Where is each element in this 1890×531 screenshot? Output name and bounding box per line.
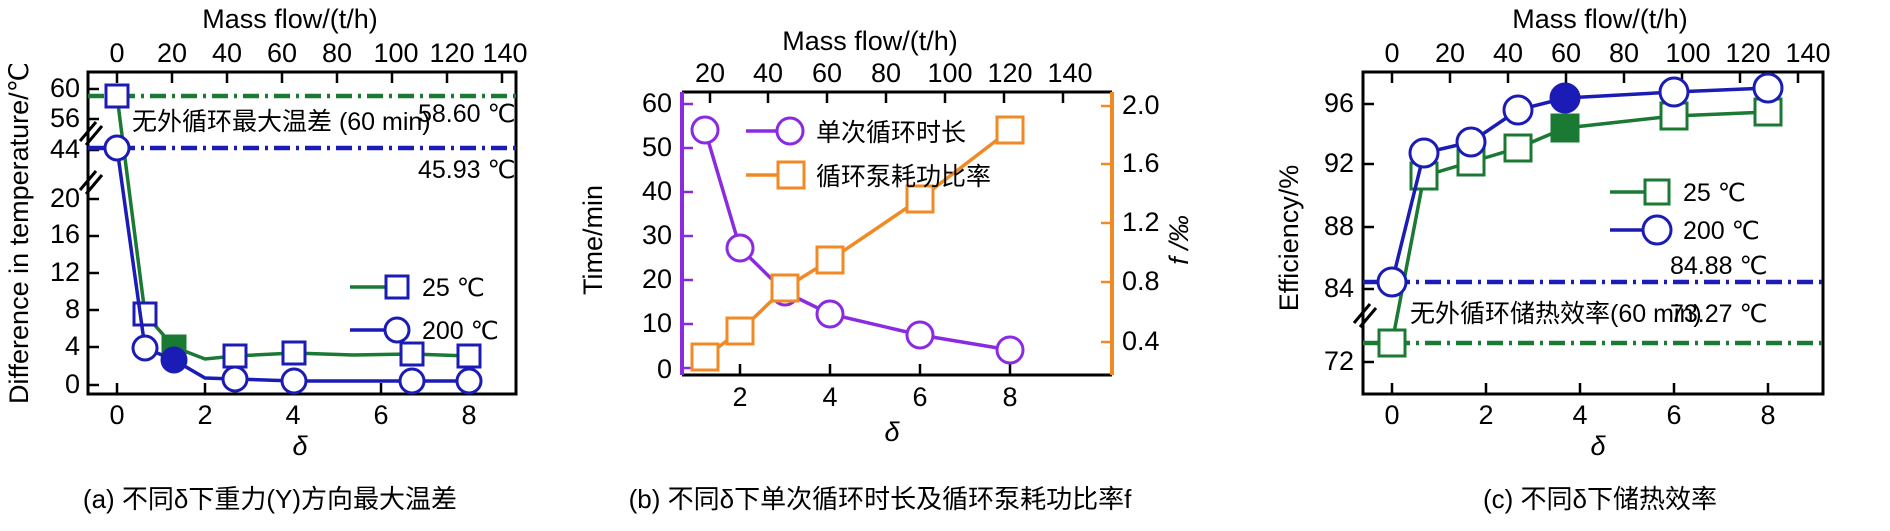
panel-a-bottom-tick-6: 6 <box>373 400 388 430</box>
panel-c-top-ticks <box>1392 72 1798 83</box>
panel-a-legend[interactable]: 25 ℃ 200 ℃ <box>350 274 499 345</box>
panel-a-legend-marker-25c <box>386 276 408 298</box>
panel-b-top-ticks <box>710 92 1063 103</box>
panel-c-bottom-tick-6: 6 <box>1666 400 1681 430</box>
panel-c-y-axis-title: Efficiency/% <box>1274 165 1304 312</box>
panel-a-bottom-tick-0: 0 <box>109 400 124 430</box>
panel-a-top-tick-120: 120 <box>429 38 474 68</box>
panel-c-axis-break-marks <box>1354 304 1376 327</box>
panel-a-y-tick-44: 44 <box>50 134 80 164</box>
panel-c-legend-label-25c: 25 ℃ <box>1683 179 1746 207</box>
panel-b-legend-label-pump-ratio: 循环泵耗功比率 <box>816 163 991 191</box>
panel-c-bottom-tick-4: 4 <box>1572 400 1587 430</box>
panel-c-legend-marker-25c <box>1645 180 1669 204</box>
panel-a-legend-label-25c: 25 ℃ <box>422 274 485 302</box>
panel-c-legend[interactable]: 25 ℃ 200 ℃ <box>1610 179 1760 245</box>
panel-b-bottom-tick-8: 8 <box>1002 382 1017 412</box>
panel-c-top-tick-60: 60 <box>1551 38 1581 68</box>
panel-c-x-axis-title: δ <box>1590 431 1606 461</box>
panel-c-y-tick-88: 88 <box>1324 211 1354 241</box>
panel-b-y-left-tick-0: 0 <box>657 354 672 384</box>
panel-c-bottom-tick-8: 8 <box>1760 400 1775 430</box>
panel-b-y-right-tick-0p4: 0.4 <box>1122 326 1160 356</box>
panel-b-y-right-tick-0p8: 0.8 <box>1122 266 1160 296</box>
panel-b-top-tick-120: 120 <box>987 58 1032 88</box>
panel-b-svg: Mass flow/(t/h) 20 40 60 80 100 120 140 … <box>540 0 1220 531</box>
panel-b-y-left-tick-20: 20 <box>642 264 672 294</box>
panel-b-y-left-tick-60: 60 <box>642 88 672 118</box>
panel-c-y-tick-72: 72 <box>1324 346 1354 376</box>
panel-b: Mass flow/(t/h) 20 40 60 80 100 120 140 … <box>540 0 1220 531</box>
panel-a-top-tick-20: 20 <box>157 38 187 68</box>
panel-c-top-tick-40: 40 <box>1493 38 1523 68</box>
panel-a-annotation-green-value: 58.60 ℃ <box>418 100 516 128</box>
panel-c-annotation-blue-value: 84.88 ℃ <box>1670 252 1768 280</box>
panel-c-top-tick-20: 20 <box>1435 38 1465 68</box>
panel-b-legend[interactable]: 单次循环时长 循环泵耗功比率 <box>746 118 991 191</box>
panel-c-top-tick-0: 0 <box>1384 38 1399 68</box>
panel-a-y-tick-0: 0 <box>65 369 80 399</box>
panel-a-legend-marker-200c <box>385 318 409 342</box>
panel-b-top-tick-80: 80 <box>871 58 901 88</box>
panel-b-legend-marker-pump-ratio <box>778 162 804 188</box>
panel-a-legend-label-200c: 200 ℃ <box>422 317 499 345</box>
panel-b-legend-marker-cycle-time <box>777 118 803 144</box>
panel-c: Mass flow/(t/h) 0 20 40 60 80 100 120 14… <box>1220 0 1890 531</box>
panel-c-top-tick-140: 140 <box>1785 38 1830 68</box>
panel-b-x-axis-title: δ <box>884 417 900 447</box>
panel-a-x-axis-title: δ <box>292 431 308 461</box>
panel-b-bottom-tick-2: 2 <box>732 382 747 412</box>
panel-b-top-tick-60: 60 <box>812 58 842 88</box>
panel-b-top-tick-40: 40 <box>753 58 783 88</box>
panel-c-annotation-text: 无外循环储热效率(60 min) <box>1410 300 1702 328</box>
panel-a-y-tick-8: 8 <box>65 294 80 324</box>
panel-c-top-axis-title: Mass flow/(t/h) <box>1512 4 1688 34</box>
panel-c-annotation-green-value: 73.27 ℃ <box>1670 300 1768 328</box>
panel-b-y-left-tick-30: 30 <box>642 220 672 250</box>
panel-a-svg: Mass flow/(t/h) 0 20 40 60 80 100 120 14… <box>0 0 540 531</box>
panel-a-annotation-blue-value: 45.93 ℃ <box>418 156 516 184</box>
panel-a-y-tick-60: 60 <box>50 73 80 103</box>
panel-b-top-tick-20: 20 <box>695 58 725 88</box>
panel-c-top-tick-120: 120 <box>1725 38 1770 68</box>
panel-c-bottom-tick-0: 0 <box>1384 400 1399 430</box>
panel-a-top-tick-80: 80 <box>322 38 352 68</box>
panel-b-y-right-tick-1p2: 1.2 <box>1122 207 1160 237</box>
panel-b-bottom-tick-4: 4 <box>822 382 837 412</box>
panel-a-axis-break-marks <box>80 122 102 194</box>
panel-b-y-right-tick-1p6: 1.6 <box>1122 148 1160 178</box>
panel-a-y-axis-title: Difference in temperature/℃ <box>4 62 34 404</box>
panel-c-top-tick-100: 100 <box>1665 38 1710 68</box>
panel-a-top-ticks <box>117 72 502 83</box>
panel-b-y-left-tick-50: 50 <box>642 132 672 162</box>
panel-b-y-left-tick-10: 10 <box>642 308 672 338</box>
panel-b-top-tick-100: 100 <box>927 58 972 88</box>
panel-b-bottom-ticks <box>740 364 1010 375</box>
panel-a-y-tick-4: 4 <box>65 331 80 361</box>
panel-c-y-tick-92: 92 <box>1324 148 1354 178</box>
panel-a-top-tick-60: 60 <box>267 38 297 68</box>
panel-c-legend-label-200c: 200 ℃ <box>1683 217 1760 245</box>
panel-b-y-left-tick-40: 40 <box>642 176 672 206</box>
panel-a-caption: (a) 不同δ下重力(Y)方向最大温差 <box>83 484 457 514</box>
panel-a-y-tick-20: 20 <box>50 183 80 213</box>
panel-b-caption: (b) 不同δ下单次循环时长及循环泵耗功比率f <box>629 484 1132 514</box>
panel-b-top-axis-title: Mass flow/(t/h) <box>782 26 958 56</box>
panel-b-legend-label-cycle-time: 单次循环时长 <box>816 119 966 147</box>
panel-c-legend-marker-200c <box>1643 216 1671 244</box>
panel-a-annotation-text: 无外循环最大温差 (60 min) <box>132 108 431 136</box>
panel-b-bottom-tick-6: 6 <box>912 382 927 412</box>
panel-c-svg: Mass flow/(t/h) 0 20 40 60 80 100 120 14… <box>1220 0 1890 531</box>
panel-a-y-tick-16: 16 <box>50 219 80 249</box>
panel-c-y-tick-84: 84 <box>1324 273 1354 303</box>
panel-a-bottom-tick-4: 4 <box>285 400 300 430</box>
panel-a-top-tick-140: 140 <box>482 38 527 68</box>
panel-c-y-tick-96: 96 <box>1324 88 1354 118</box>
panel-a-bottom-tick-8: 8 <box>461 400 476 430</box>
figure-root: Mass flow/(t/h) 0 20 40 60 80 100 120 14… <box>0 0 1890 531</box>
panel-a-top-axis-title: Mass flow/(t/h) <box>202 4 378 34</box>
panel-a-top-tick-100: 100 <box>373 38 418 68</box>
panel-a-top-tick-0: 0 <box>109 38 124 68</box>
panel-b-y-right-tick-2p0: 2.0 <box>1122 90 1160 120</box>
panel-c-bottom-tick-2: 2 <box>1478 400 1493 430</box>
panel-a-y-tick-12: 12 <box>50 257 80 287</box>
panel-a-bottom-tick-2: 2 <box>197 400 212 430</box>
panel-c-caption: (c) 不同δ下储热效率 <box>1483 484 1717 514</box>
panel-b-y-axis-right-title: f /‰ <box>1164 215 1194 265</box>
panel-b-y-axis-left-title: Time/min <box>578 185 608 295</box>
panel-c-top-tick-80: 80 <box>1609 38 1639 68</box>
panel-b-top-tick-140: 140 <box>1047 58 1092 88</box>
panel-c-bottom-ticks <box>1392 383 1768 394</box>
panel-a: Mass flow/(t/h) 0 20 40 60 80 100 120 14… <box>0 0 540 531</box>
panel-a-top-tick-40: 40 <box>212 38 242 68</box>
panel-a-y-tick-56: 56 <box>50 103 80 133</box>
